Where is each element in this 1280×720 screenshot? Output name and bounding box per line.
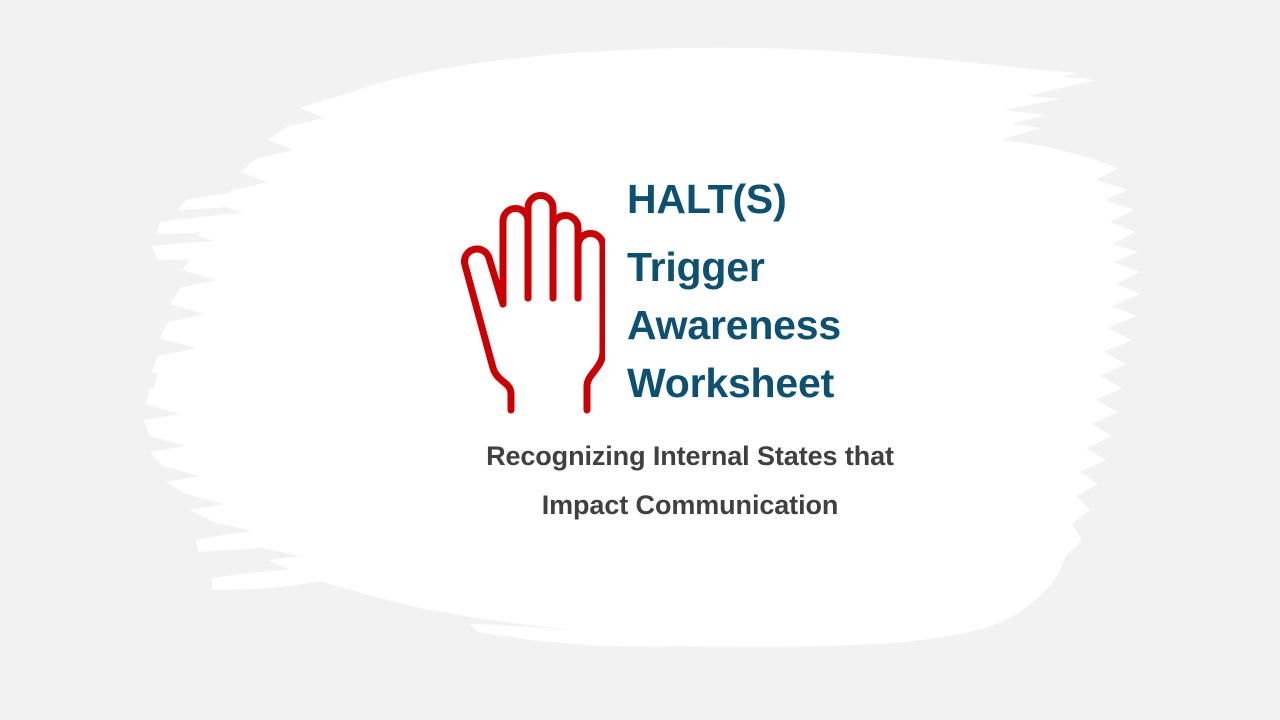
slide-content: HALT(S) Trigger Awareness Worksheet Reco… — [0, 0, 1280, 720]
page-title-line-3: Awareness — [627, 296, 925, 354]
page-title-line-1: HALT(S) — [627, 170, 925, 228]
raised-hand-icon — [455, 186, 605, 416]
slide-canvas: HALT(S) Trigger Awareness Worksheet Reco… — [0, 0, 1280, 720]
page-title-line-4: Worksheet — [627, 354, 925, 412]
page-title-line-2: Trigger — [627, 238, 925, 296]
subtitle-line-2: Impact Communication — [240, 481, 1140, 530]
title-block: HALT(S) Trigger Awareness Worksheet — [605, 170, 925, 412]
title-row: HALT(S) Trigger Awareness Worksheet — [455, 170, 925, 415]
subtitle-block: Recognizing Internal States that Impact … — [240, 432, 1140, 530]
subtitle-line-1: Recognizing Internal States that — [240, 432, 1140, 481]
